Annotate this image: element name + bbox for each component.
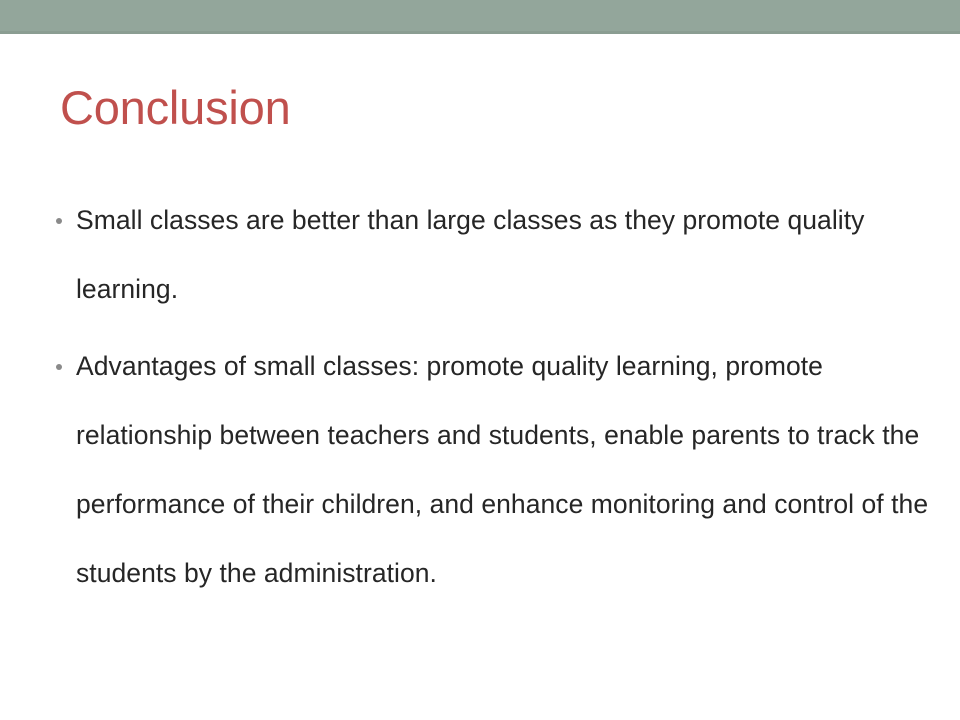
- bullet-dot-icon: [56, 364, 62, 370]
- list-item-text: Advantages of small classes: promote qua…: [76, 332, 930, 608]
- list-item: Small classes are better than large clas…: [50, 186, 930, 324]
- presentation-slide: Conclusion Small classes are better than…: [0, 0, 960, 720]
- slide-top-accent-rule: [0, 31, 960, 34]
- bullet-dot-icon: [56, 218, 62, 224]
- slide-top-accent-band: [0, 0, 960, 31]
- list-item-text: Small classes are better than large clas…: [76, 186, 930, 324]
- page-title: Conclusion: [60, 80, 900, 136]
- list-item: Advantages of small classes: promote qua…: [50, 332, 930, 608]
- slide-body-content: Small classes are better than large clas…: [50, 186, 930, 608]
